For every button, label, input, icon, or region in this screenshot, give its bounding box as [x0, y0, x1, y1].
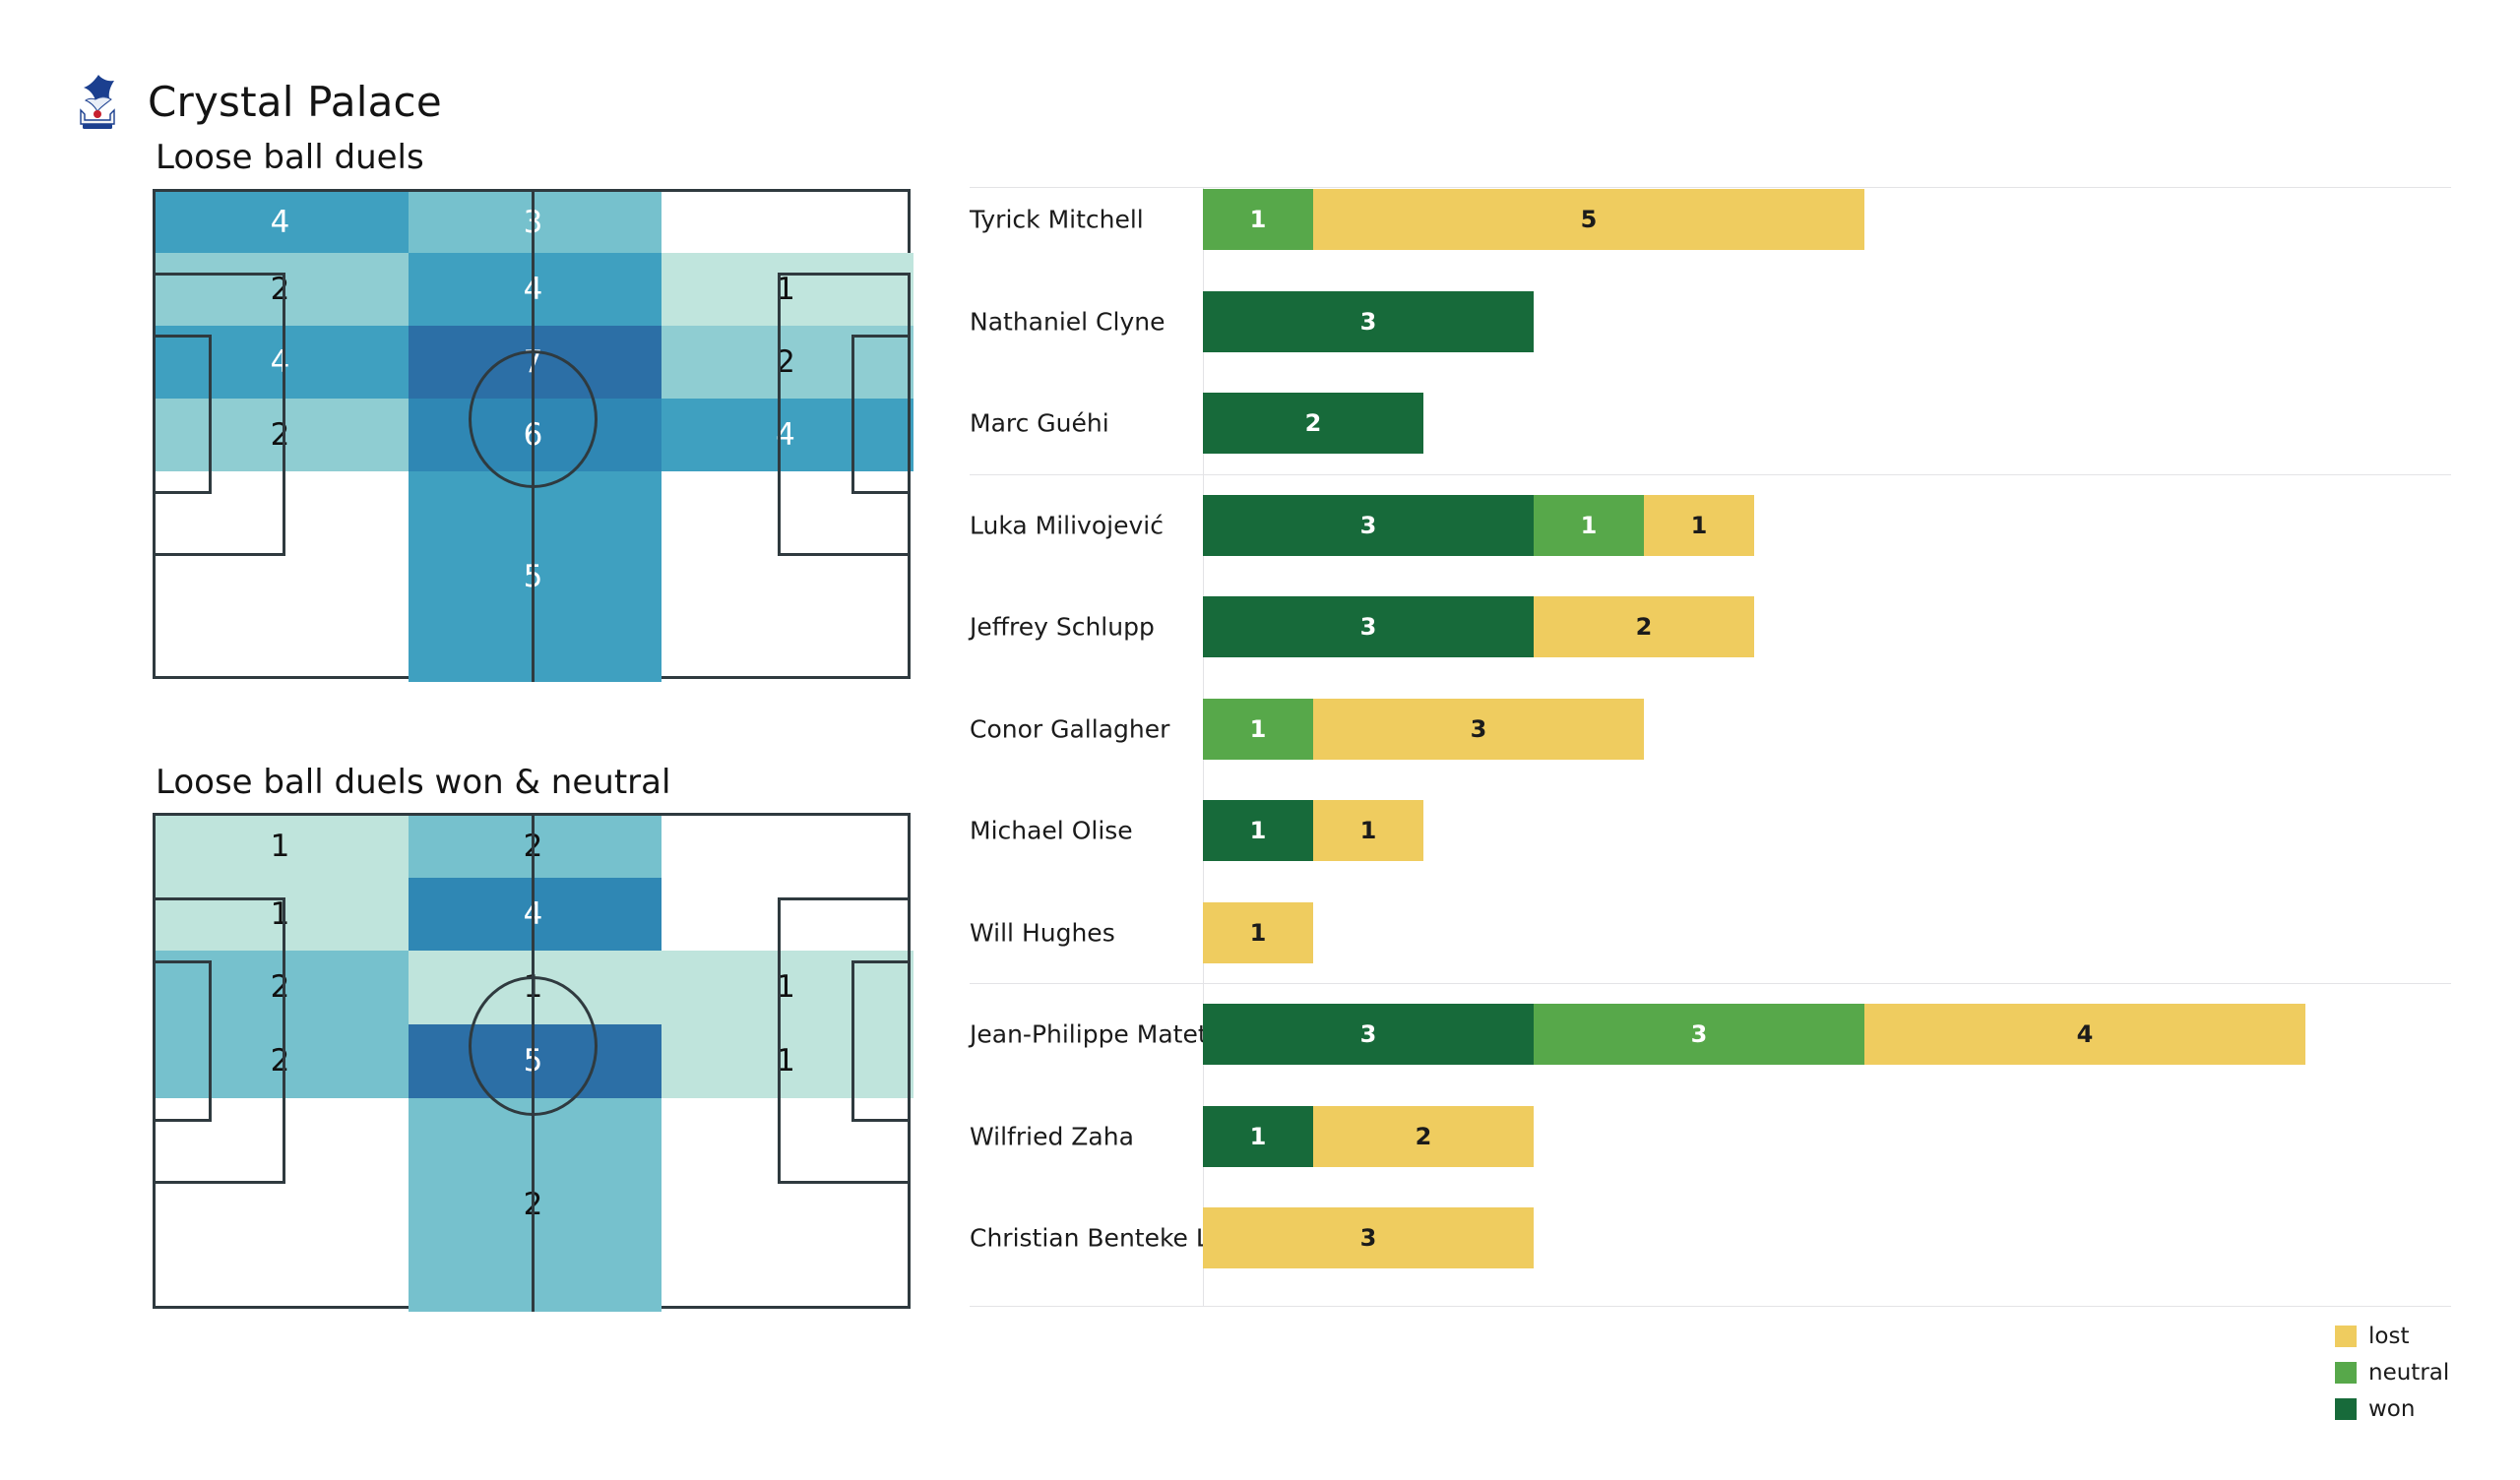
heatmap-cell-value: 2	[271, 972, 290, 1003]
heatmap-cell-value: 1	[271, 832, 290, 862]
heatmap-cell-value: 2	[271, 1046, 290, 1077]
bar-segment-lost[interactable]: 5	[1313, 189, 1864, 250]
bar-segment-won[interactable]: 3	[1203, 495, 1534, 556]
bar-chart-row-label: Michael Olise	[970, 817, 1203, 845]
heatmap-cell: 1	[661, 1024, 913, 1098]
bar-segment-value: 1	[1691, 512, 1708, 539]
bar-chart-row-label: Tyrick Mitchell	[970, 206, 1203, 234]
heatmap-cell: 7	[409, 326, 661, 399]
heatmap-cell: 2	[409, 816, 661, 878]
bar-segment-won[interactable]: 3	[1203, 596, 1534, 657]
bar-chart-row[interactable]: Jeffrey Schlupp32	[970, 596, 2451, 657]
heatmap-cells: 432414722645	[156, 192, 908, 676]
bar-chart-row-label: Wilfried Zaha	[970, 1122, 1203, 1150]
heatmap-cell-value: 4	[271, 347, 290, 378]
legend-item-neutral[interactable]: neutral	[2335, 1360, 2449, 1386]
pitch-heatmap-loose-ball-duels: 432414722645	[153, 189, 911, 679]
chart-bottom-border	[970, 1306, 2451, 1307]
heatmap-cell: 2	[409, 1098, 661, 1312]
heatmap-cell: 2	[156, 253, 409, 326]
bar-segment-value: 3	[1471, 715, 1487, 743]
bar-segment-neutral[interactable]: 1	[1534, 495, 1644, 556]
heatmap-cell: 5	[409, 1024, 661, 1098]
bar-segment-lost[interactable]: 2	[1534, 596, 1754, 657]
legend-item-won[interactable]: won	[2335, 1396, 2449, 1422]
pitch-heatmap-loose-ball-duels-won-neutral: 12142112512	[153, 813, 911, 1309]
legend-swatch-lost	[2335, 1326, 2357, 1347]
pitch-title-loose-ball-duels: Loose ball duels	[156, 138, 424, 177]
heatmap-cell-value: 2	[776, 347, 795, 378]
bar-segment-value: 5	[1581, 206, 1598, 233]
bar-chart-row[interactable]: Christian Benteke Liolo3	[970, 1207, 2451, 1268]
legend-swatch-neutral	[2335, 1362, 2357, 1384]
bar-chart-row[interactable]: Marc Guéhi2	[970, 393, 2451, 454]
bar-segment-lost[interactable]: 1	[1313, 800, 1423, 861]
bar-chart-row-label: Conor Gallagher	[970, 714, 1203, 743]
bar-segment-won[interactable]: 1	[1203, 800, 1313, 861]
bar-segment-lost[interactable]: 3	[1203, 1207, 1534, 1268]
heatmap-cell: 1	[661, 253, 913, 326]
bar-segment-neutral[interactable]: 3	[1534, 1004, 1864, 1065]
heatmap-cell: 4	[156, 192, 409, 253]
heatmap-cell-value: 2	[271, 420, 290, 451]
bar-chart-row[interactable]: Michael Olise11	[970, 800, 2451, 861]
heatmap-cell: 4	[409, 253, 661, 326]
bar-chart-row[interactable]: Tyrick Mitchell15	[970, 189, 2451, 250]
heatmap-cell-value: 7	[524, 347, 543, 378]
bar-segment-lost[interactable]: 2	[1313, 1106, 1534, 1167]
bar-segment-value: 4	[2077, 1020, 2094, 1048]
bar-segment-value: 3	[1360, 1224, 1377, 1252]
bar-segment-value: 2	[1416, 1123, 1432, 1150]
heatmap-cell: 4	[156, 326, 409, 399]
bar-chart-row-label: Marc Guéhi	[970, 409, 1203, 438]
heatmap-cell: 1	[156, 878, 409, 951]
bar-segment-lost[interactable]: 4	[1864, 1004, 2305, 1065]
bar-segment-won[interactable]: 3	[1203, 1004, 1534, 1065]
legend-swatch-won	[2335, 1398, 2357, 1420]
heatmap-cell-value: 2	[524, 1190, 543, 1220]
bar-segment-value: 1	[1581, 512, 1598, 539]
bar-segment-value: 2	[1636, 613, 1653, 641]
heatmap-cell: 1	[409, 951, 661, 1024]
heatmap-cell: 2	[156, 951, 409, 1024]
chart-group-separator	[970, 474, 2451, 475]
heatmap-cell-value: 3	[524, 208, 543, 238]
heatmap-cell-value: 2	[271, 275, 290, 305]
legend-item-lost[interactable]: lost	[2335, 1324, 2449, 1349]
chart-group-separator	[970, 983, 2451, 984]
heatmap-cell-value: 6	[524, 420, 543, 451]
heatmap-cell: 1	[156, 816, 409, 878]
bar-segment-neutral[interactable]: 1	[1203, 189, 1313, 250]
bar-segment-value: 1	[1360, 817, 1377, 844]
heatmap-cell-value: 1	[776, 275, 795, 305]
bar-segment-value: 3	[1360, 512, 1377, 539]
bar-chart-row-label: Jeffrey Schlupp	[970, 613, 1203, 642]
chart-top-border	[970, 187, 2451, 188]
bar-segment-neutral[interactable]: 1	[1203, 699, 1313, 760]
heatmap-cell: 2	[156, 399, 409, 471]
heatmap-cell: 3	[409, 192, 661, 253]
heatmap-cell: 4	[409, 878, 661, 951]
bar-segment-lost[interactable]: 3	[1313, 699, 1644, 760]
legend-label: neutral	[2368, 1360, 2449, 1386]
bar-chart-row-label: Nathaniel Clyne	[970, 307, 1203, 336]
bar-segment-value: 1	[1250, 206, 1267, 233]
heatmap-cell: 4	[661, 399, 913, 471]
heatmap-cell-value: 4	[271, 208, 290, 238]
player-duels-bar-chart: Tyrick Mitchell15Nathaniel Clyne3Marc Gu…	[970, 187, 2451, 1307]
bar-chart-row[interactable]: Will Hughes1	[970, 902, 2451, 963]
bar-chart-row-label: Christian Benteke Liolo	[970, 1224, 1203, 1253]
pitch-title-loose-ball-duels-won-neutral: Loose ball duels won & neutral	[156, 763, 670, 802]
crystal-palace-crest-icon	[69, 71, 126, 132]
heatmap-cell-value: 1	[776, 972, 795, 1003]
heatmap-cell: 2	[156, 1024, 409, 1098]
heatmap-cell-value: 1	[524, 972, 543, 1003]
bar-segment-value: 1	[1250, 817, 1267, 844]
heatmap-cell: 1	[661, 951, 913, 1024]
heatmap-cell-value: 5	[524, 562, 543, 592]
bar-chart-row[interactable]: Luka Milivojević311	[970, 495, 2451, 556]
heatmap-cell-value: 4	[524, 899, 543, 930]
bar-segment-lost[interactable]: 1	[1203, 902, 1313, 963]
bar-segment-value: 3	[1360, 1020, 1377, 1048]
bar-segment-value: 1	[1250, 1123, 1267, 1150]
bar-segment-value: 1	[1250, 715, 1267, 743]
heatmap-cell-value: 1	[776, 1046, 795, 1077]
team-header: Crystal Palace	[69, 71, 442, 132]
bar-chart-row[interactable]: Conor Gallagher13	[970, 699, 2451, 760]
heatmap-cell: 2	[661, 326, 913, 399]
bar-segment-value: 2	[1305, 409, 1322, 437]
bar-segment-value: 1	[1250, 919, 1267, 947]
legend-label: lost	[2368, 1324, 2409, 1349]
heatmap-cell-value: 2	[524, 832, 543, 862]
heatmap-cell: 5	[409, 471, 661, 682]
bar-chart-row[interactable]: Nathaniel Clyne3	[970, 291, 2451, 352]
heatmap-cell: 6	[409, 399, 661, 471]
bar-segment-won[interactable]: 1	[1203, 1106, 1313, 1167]
bar-segment-value: 3	[1360, 308, 1377, 336]
bar-chart-row[interactable]: Jean-Philippe Mateta334	[970, 1004, 2451, 1065]
heatmap-cell-value: 5	[524, 1046, 543, 1077]
chart-legend: lostneutralwon	[2335, 1324, 2449, 1422]
bar-chart-row-label: Luka Milivojević	[970, 511, 1203, 539]
bar-chart-row[interactable]: Wilfried Zaha12	[970, 1106, 2451, 1167]
bar-segment-lost[interactable]: 1	[1644, 495, 1754, 556]
heatmap-cells: 12142112512	[156, 816, 908, 1306]
bar-chart-row-label: Jean-Philippe Mateta	[970, 1020, 1203, 1049]
bar-segment-won[interactable]: 3	[1203, 291, 1534, 352]
bar-segment-value: 3	[1691, 1020, 1708, 1048]
heatmap-cell-value: 1	[271, 899, 290, 930]
heatmap-cell-value: 4	[776, 420, 795, 451]
heatmap-cell-value: 4	[524, 275, 543, 305]
team-name: Crystal Palace	[148, 78, 442, 126]
legend-label: won	[2368, 1396, 2415, 1422]
bar-segment-won[interactable]: 2	[1203, 393, 1423, 454]
bar-chart-row-label: Will Hughes	[970, 918, 1203, 947]
bar-segment-value: 3	[1360, 613, 1377, 641]
